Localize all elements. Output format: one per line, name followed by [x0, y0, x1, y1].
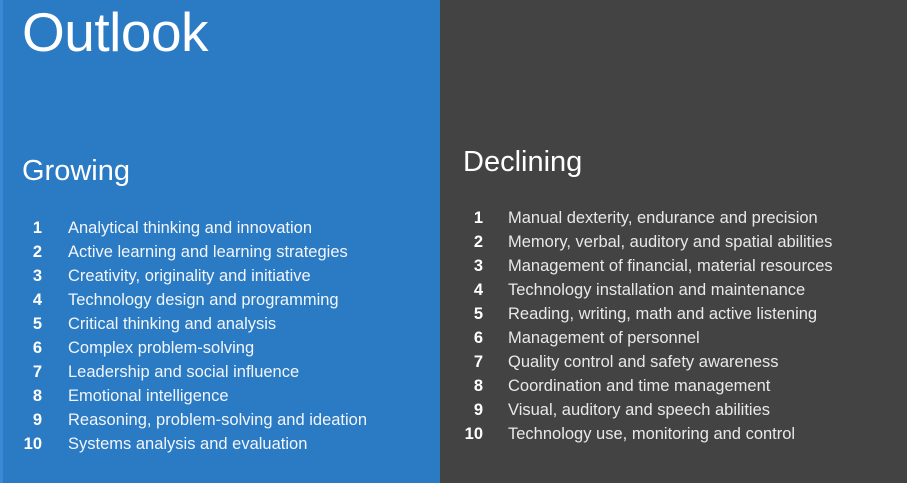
- rank-number: 7: [440, 350, 483, 374]
- list-item: 10 Technology use, monitoring and contro…: [440, 422, 907, 446]
- list-item: 2 Memory, verbal, auditory and spatial a…: [440, 230, 907, 254]
- rank-number: 10: [440, 422, 483, 446]
- rank-number: 3: [0, 264, 42, 288]
- list-item: 5 Critical thinking and analysis: [0, 312, 440, 336]
- growing-heading: Growing: [22, 155, 130, 187]
- rank-number: 5: [0, 312, 42, 336]
- list-item: 8 Coordination and time management: [440, 374, 907, 398]
- rank-label: Technology use, monitoring and control: [508, 422, 795, 446]
- rank-number: 2: [0, 240, 42, 264]
- declining-heading: Declining: [463, 146, 582, 178]
- list-item: 5 Reading, writing, math and active list…: [440, 302, 907, 326]
- rank-label: Management of personnel: [508, 326, 700, 350]
- rank-number: 5: [440, 302, 483, 326]
- list-item: 6 Management of personnel: [440, 326, 907, 350]
- rank-label: Critical thinking and analysis: [68, 312, 276, 336]
- list-item: 4 Technology design and programming: [0, 288, 440, 312]
- rank-label: Technology installation and maintenance: [508, 278, 805, 302]
- rank-label: Analytical thinking and innovation: [68, 216, 312, 240]
- rank-number: 4: [440, 278, 483, 302]
- rank-number: 1: [0, 216, 42, 240]
- rank-number: 6: [0, 336, 42, 360]
- rank-number: 9: [440, 398, 483, 422]
- rank-number: 10: [0, 432, 42, 456]
- rank-label: Creativity, originality and initiative: [68, 264, 311, 288]
- growing-skills-list: 1 Analytical thinking and innovation 2 A…: [0, 216, 440, 456]
- rank-label: Systems analysis and evaluation: [68, 432, 307, 456]
- rank-label: Visual, auditory and speech abilities: [508, 398, 770, 422]
- rank-number: 1: [440, 206, 483, 230]
- rank-label: Technology design and programming: [68, 288, 339, 312]
- list-item: 7 Leadership and social influence: [0, 360, 440, 384]
- rank-number: 9: [0, 408, 42, 432]
- list-item: 4 Technology installation and maintenanc…: [440, 278, 907, 302]
- list-item: 10 Systems analysis and evaluation: [0, 432, 440, 456]
- list-item: 3 Creativity, originality and initiative: [0, 264, 440, 288]
- rank-number: 6: [440, 326, 483, 350]
- list-item: 9 Reasoning, problem-solving and ideatio…: [0, 408, 440, 432]
- rank-label: Complex problem-solving: [68, 336, 254, 360]
- list-item: 7 Quality control and safety awareness: [440, 350, 907, 374]
- rank-number: 7: [0, 360, 42, 384]
- rank-number: 4: [0, 288, 42, 312]
- page-title: Outlook: [22, 2, 208, 64]
- rank-label: Reading, writing, math and active listen…: [508, 302, 817, 326]
- rank-label: Active learning and learning strategies: [68, 240, 348, 264]
- rank-number: 2: [440, 230, 483, 254]
- rank-label: Emotional intelligence: [68, 384, 229, 408]
- rank-label: Manual dexterity, endurance and precisio…: [508, 206, 818, 230]
- rank-number: 8: [0, 384, 42, 408]
- rank-label: Quality control and safety awareness: [508, 350, 779, 374]
- list-item: 2 Active learning and learning strategie…: [0, 240, 440, 264]
- list-item: 8 Emotional intelligence: [0, 384, 440, 408]
- list-item: 3 Management of financial, material reso…: [440, 254, 907, 278]
- rank-label: Memory, verbal, auditory and spatial abi…: [508, 230, 832, 254]
- list-item: 1 Analytical thinking and innovation: [0, 216, 440, 240]
- rank-label: Reasoning, problem-solving and ideation: [68, 408, 367, 432]
- list-item: 9 Visual, auditory and speech abilities: [440, 398, 907, 422]
- list-item: 1 Manual dexterity, endurance and precis…: [440, 206, 907, 230]
- rank-label: Management of financial, material resour…: [508, 254, 833, 278]
- outlook-slide: Outlook Growing Declining 1 Analytical t…: [0, 0, 907, 483]
- declining-skills-list: 1 Manual dexterity, endurance and precis…: [440, 206, 907, 446]
- rank-label: Coordination and time management: [508, 374, 770, 398]
- rank-label: Leadership and social influence: [68, 360, 299, 384]
- rank-number: 8: [440, 374, 483, 398]
- rank-number: 3: [440, 254, 483, 278]
- list-item: 6 Complex problem-solving: [0, 336, 440, 360]
